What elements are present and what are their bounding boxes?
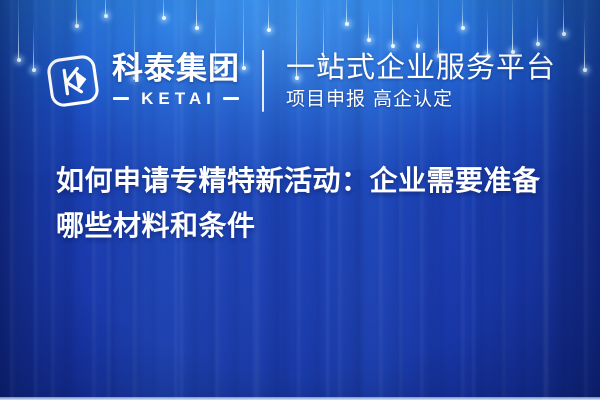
background-vignette bbox=[0, 0, 600, 400]
banner-image: 科泰集团 KETAI 一站式企业服务平台 项目申报 高企认定 如何申请专精特新活… bbox=[0, 0, 600, 400]
